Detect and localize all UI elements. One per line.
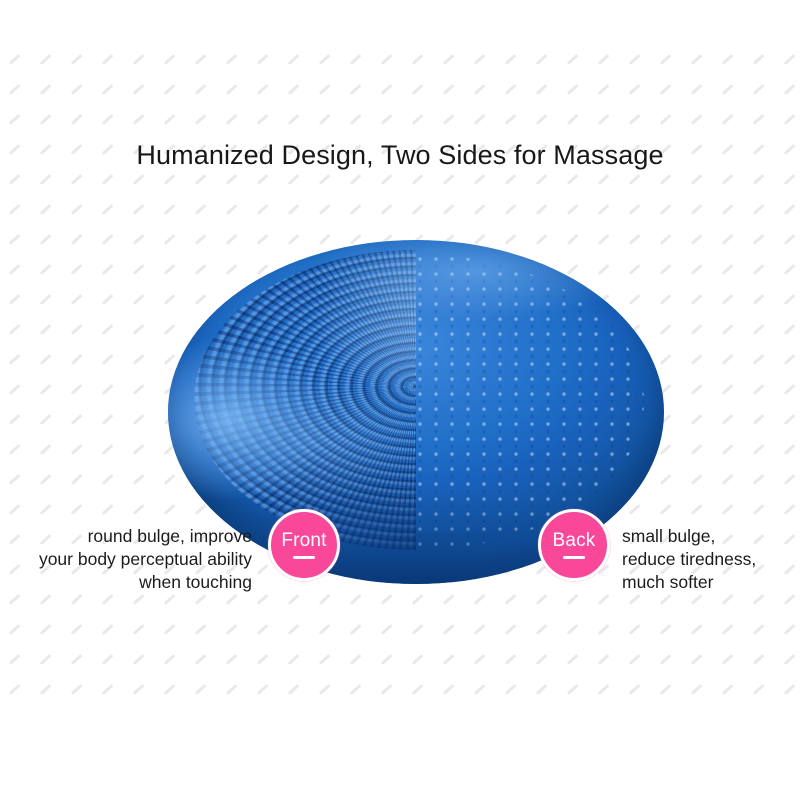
badge-front-rule [293,556,315,559]
watermark-slash [691,54,702,65]
watermark-slash [412,594,423,605]
watermark-slash [691,204,702,215]
watermark-slash [40,384,51,395]
watermark-slash [102,114,113,125]
watermark-slash [753,114,764,125]
watermark-slash [722,624,733,635]
watermark-slash [784,264,795,275]
watermark-slash [164,624,175,635]
watermark-slash [195,174,206,185]
watermark-slash [226,684,237,695]
watermark-slash [629,204,640,215]
watermark-slash [40,504,51,515]
watermark-slash [9,354,20,365]
watermark-slash [691,384,702,395]
badge-back-rule [563,556,585,559]
watermark-slash [753,234,764,245]
watermark-slash [288,84,299,95]
watermark-slash [536,54,547,65]
watermark-slash [164,54,175,65]
watermark-slash [753,294,764,305]
watermark-slash [443,174,454,185]
watermark-slash [71,234,82,245]
watermark-slash [350,654,361,665]
watermark-slash [691,414,702,425]
watermark-slash [691,84,702,95]
watermark-slash [319,54,330,65]
watermark-slash [133,414,144,425]
watermark-slash [660,114,671,125]
watermark-slash [505,174,516,185]
watermark-slash [226,84,237,95]
watermark-slash [753,624,764,635]
watermark-slash [722,354,733,365]
watermark-slash [9,504,20,515]
watermark-slash [319,204,330,215]
watermark-slash [722,654,733,665]
watermark-slash [753,414,764,425]
watermark-slash [660,204,671,215]
watermark-slash [784,594,795,605]
watermark-slash [474,54,485,65]
watermark-slash [9,684,20,695]
nub-texture-front [194,250,416,550]
watermark-slash [722,204,733,215]
page-title: Humanized Design, Two Sides for Massage [0,138,800,172]
watermark-slash [691,504,702,515]
watermark-slash [71,654,82,665]
watermark-slash [753,684,764,695]
watermark-slash [443,54,454,65]
watermark-slash [71,54,82,65]
watermark-slash [722,414,733,425]
watermark-slash [722,684,733,695]
watermark-slash [567,204,578,215]
watermark-slash [164,174,175,185]
watermark-slash [443,204,454,215]
watermark-slash [753,354,764,365]
watermark-slash [598,594,609,605]
watermark-slash [40,204,51,215]
watermark-slash [474,174,485,185]
watermark-slash [784,504,795,515]
watermark-slash [195,654,206,665]
watermark-slash [443,114,454,125]
watermark-slash [40,474,51,485]
watermark-slash [660,624,671,635]
watermark-slash [288,624,299,635]
watermark-slash [443,624,454,635]
watermark-slash [474,654,485,665]
caption-front-line-3: when touching [0,571,252,594]
watermark-slash [784,234,795,245]
watermark-slash [288,684,299,695]
watermark-slash [288,54,299,65]
watermark-slash [350,594,361,605]
watermark-slash [691,324,702,335]
watermark-slash [133,204,144,215]
watermark-slash [350,114,361,125]
watermark-slash [288,174,299,185]
watermark-slash [660,84,671,95]
watermark-slash [40,264,51,275]
watermark-slash [598,84,609,95]
watermark-slash [257,204,268,215]
watermark-slash [598,114,609,125]
watermark-slash [381,204,392,215]
caption-back-line-2: reduce tiredness, [622,548,800,571]
watermark-slash [102,84,113,95]
watermark-slash [9,234,20,245]
watermark-slash [629,594,640,605]
watermark-slash [753,264,764,275]
watermark-slash [71,684,82,695]
watermark-slash [102,324,113,335]
watermark-slash [505,684,516,695]
watermark-slash [722,234,733,245]
caption-back-line-1: small bulge, [622,525,800,548]
watermark-slash [691,264,702,275]
watermark-slash [536,204,547,215]
watermark-slash [319,174,330,185]
watermark-slash [9,414,20,425]
watermark-slash [505,594,516,605]
watermark-slash [133,684,144,695]
watermark-slash [226,204,237,215]
watermark-slash [536,624,547,635]
watermark-slash [40,294,51,305]
watermark-slash [164,204,175,215]
watermark-slash [443,84,454,95]
watermark-slash [784,294,795,305]
watermark-slash [288,204,299,215]
watermark-slash [753,174,764,185]
watermark-slash [319,84,330,95]
watermark-slash [381,54,392,65]
watermark-slash [629,624,640,635]
badge-front: Front [268,509,340,581]
watermark-slash [71,204,82,215]
watermark-slash [257,114,268,125]
watermark-slash [102,354,113,365]
watermark-slash [691,594,702,605]
watermark-slash [195,684,206,695]
watermark-slash [412,654,423,665]
watermark-slash [536,84,547,95]
watermark-slash [164,654,175,665]
watermark-slash [71,324,82,335]
watermark-slash [784,684,795,695]
watermark-slash [71,294,82,305]
watermark-slash [288,594,299,605]
watermark-slash [443,654,454,665]
watermark-slash [102,384,113,395]
watermark-slash [71,84,82,95]
watermark-slash [71,354,82,365]
caption-front: round bulge, improve your body perceptua… [0,525,260,594]
watermark-slash [753,204,764,215]
watermark-slash [505,654,516,665]
watermark-slash [753,504,764,515]
watermark-slash [319,654,330,665]
watermark-slash [722,474,733,485]
watermark-slash [753,324,764,335]
watermark-slash [722,594,733,605]
watermark-slash [350,624,361,635]
watermark-slash [598,54,609,65]
watermark-slash [226,654,237,665]
watermark-slash [40,54,51,65]
watermark-slash [660,174,671,185]
watermark-slash [9,294,20,305]
watermark-slash [40,354,51,365]
watermark-slash [133,654,144,665]
watermark-slash [9,654,20,665]
watermark-slash [629,84,640,95]
watermark-slash [71,594,82,605]
badge-back-label: Back [552,531,595,551]
watermark-slash [133,594,144,605]
watermark-slash [9,474,20,485]
watermark-slash [598,204,609,215]
watermark-slash [133,504,144,515]
watermark-slash [629,684,640,695]
watermark-slash [784,324,795,335]
watermark-slash [133,384,144,395]
watermark-slash [412,114,423,125]
watermark-slash [536,594,547,605]
watermark-slash [164,684,175,695]
watermark-slash [722,504,733,515]
watermark-slash [319,624,330,635]
watermark-slash [9,84,20,95]
watermark-slash [257,174,268,185]
watermark-slash [350,684,361,695]
watermark-slash [195,624,206,635]
watermark-slash [195,594,206,605]
watermark-slash [784,384,795,395]
watermark-slash [9,594,20,605]
watermark-slash [40,624,51,635]
watermark-slash [722,54,733,65]
watermark-slash [257,54,268,65]
watermark-slash [40,324,51,335]
watermark-slash [9,114,20,125]
watermark-slash [257,684,268,695]
watermark-slash [474,684,485,695]
watermark-slash [381,654,392,665]
watermark-slash [40,84,51,95]
watermark-slash [288,654,299,665]
watermark-slash [71,114,82,125]
watermark-slash [102,234,113,245]
watermark-slash [350,84,361,95]
badge-back: Back [538,509,610,581]
watermark-slash [691,684,702,695]
watermark-slash [40,414,51,425]
watermark-slash [226,594,237,605]
watermark-slash [629,654,640,665]
watermark-slash [350,54,361,65]
watermark-slash [722,384,733,395]
watermark-slash [102,504,113,515]
watermark-slash [412,84,423,95]
watermark-slash [9,624,20,635]
watermark-slash [598,624,609,635]
watermark-slash [102,684,113,695]
watermark-slash [71,504,82,515]
watermark-slash [567,594,578,605]
badge-front-label: Front [281,531,326,551]
watermark-slash [133,624,144,635]
watermark-slash [691,654,702,665]
watermark-slash [195,54,206,65]
watermark-slash [350,204,361,215]
watermark-slash [412,54,423,65]
watermark-slash [567,84,578,95]
watermark-slash [226,54,237,65]
watermark-slash [722,114,733,125]
watermark-slash [753,54,764,65]
watermark-slash [350,174,361,185]
watermark-slash [71,474,82,485]
watermark-slash [40,594,51,605]
watermark-slash [226,114,237,125]
caption-back: small bulge, reduce tiredness, much soft… [622,525,800,594]
watermark-slash [102,174,113,185]
watermark-slash [195,84,206,95]
watermark-slash [691,474,702,485]
watermark-slash [567,54,578,65]
watermark-slash [412,624,423,635]
watermark-slash [195,114,206,125]
watermark-slash [40,174,51,185]
watermark-slash [660,594,671,605]
watermark-slash [9,384,20,395]
watermark-slash [381,624,392,635]
watermark-slash [133,294,144,305]
watermark-slash [102,444,113,455]
watermark-slash [164,84,175,95]
watermark-slash [102,264,113,275]
watermark-slash [319,114,330,125]
watermark-slash [784,174,795,185]
watermark-slash [40,684,51,695]
watermark-slash [784,444,795,455]
watermark-slash [102,414,113,425]
watermark-slash [784,474,795,485]
watermark-slash [443,684,454,695]
product-feature-panel: Humanized Design, Two Sides for Massage [0,0,800,800]
watermark-slash [9,204,20,215]
watermark-slash [71,444,82,455]
watermark-slash [784,114,795,125]
watermark-slash [71,384,82,395]
watermark-slash [381,114,392,125]
watermark-slash [164,114,175,125]
watermark-slash [381,174,392,185]
watermark-slash [40,114,51,125]
watermark-slash [9,174,20,185]
watermark-slash [536,654,547,665]
watermark-slash [505,624,516,635]
watermark-slash [133,324,144,335]
watermark-slash [288,114,299,125]
watermark-slash [71,414,82,425]
watermark-slash [753,654,764,665]
watermark-slash [722,84,733,95]
watermark-slash [164,594,175,605]
caption-front-line-1: round bulge, improve [0,525,252,548]
watermark-slash [474,594,485,605]
watermark-slash [691,294,702,305]
watermark-slash [443,594,454,605]
watermark-slash [9,54,20,65]
watermark-slash [536,684,547,695]
watermark-slash [691,234,702,245]
watermark-slash [71,624,82,635]
watermark-slash [598,684,609,695]
watermark-slash [71,264,82,275]
watermark-slash [319,684,330,695]
watermark-slash [567,624,578,635]
watermark-slash [102,594,113,605]
watermark-slash [102,54,113,65]
watermark-slash [133,174,144,185]
watermark-slash [412,204,423,215]
watermark-slash [598,174,609,185]
watermark-slash [691,114,702,125]
watermark-slash [412,684,423,695]
watermark-slash [133,84,144,95]
watermark-slash [722,264,733,275]
watermark-slash [257,624,268,635]
watermark-slash [567,654,578,665]
watermark-slash [753,384,764,395]
watermark-slash [784,354,795,365]
watermark-slash [40,654,51,665]
watermark-slash [9,324,20,335]
watermark-slash [722,174,733,185]
watermark-slash [660,654,671,665]
watermark-slash [474,624,485,635]
watermark-slash [629,54,640,65]
watermark-slash [753,84,764,95]
watermark-slash [753,474,764,485]
watermark-slash [133,354,144,365]
watermark-slash [722,294,733,305]
watermark-slash [226,174,237,185]
watermark-slash [753,444,764,455]
watermark-slash [691,624,702,635]
watermark-slash [102,474,113,485]
watermark-slash [722,324,733,335]
watermark-slash [784,204,795,215]
watermark-slash [102,624,113,635]
watermark-slash [598,654,609,665]
dimple-texture-back [416,254,644,550]
watermark-slash [133,54,144,65]
watermark-slash [381,84,392,95]
watermark-slash [505,204,516,215]
watermark-slash [133,474,144,485]
watermark-slash [133,444,144,455]
caption-front-line-2: your body perceptual ability [0,548,252,571]
watermark-slash [629,174,640,185]
watermark-slash [691,444,702,455]
watermark-slash [257,594,268,605]
watermark-slash [133,264,144,275]
